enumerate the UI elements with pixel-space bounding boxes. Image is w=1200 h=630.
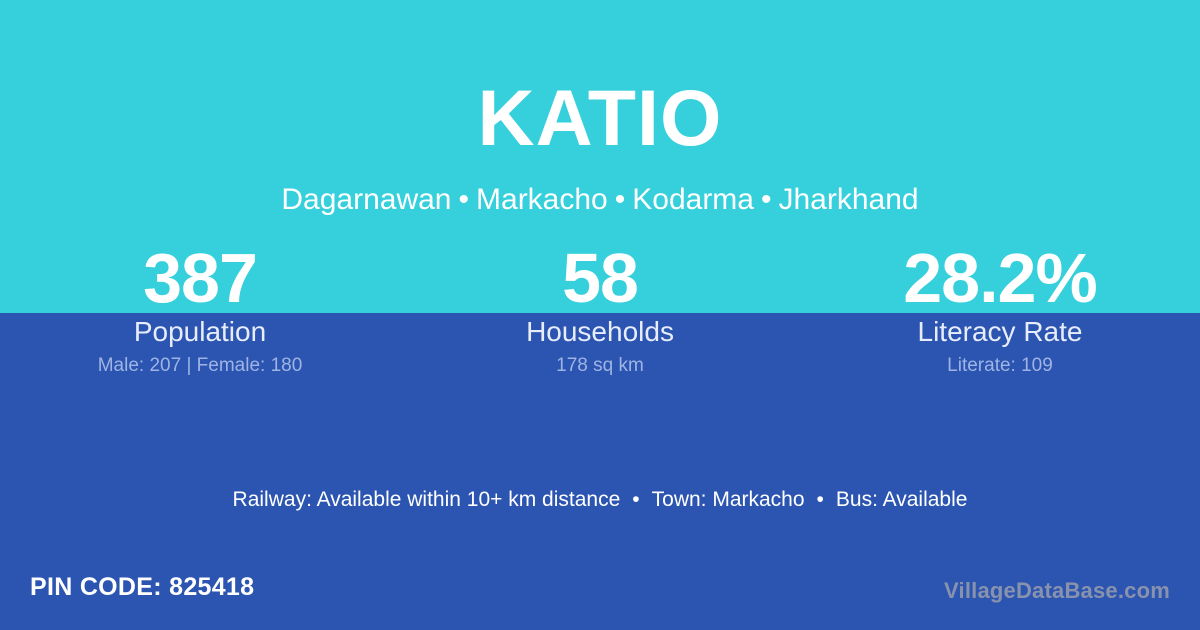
stat-value: 58 — [400, 244, 800, 312]
stat-subtext: Male: 207 | Female: 180 — [0, 355, 400, 377]
stat-population: 387 Population Male: 207 | Female: 180 — [0, 244, 400, 377]
stat-label: Population — [0, 316, 400, 348]
stat-subtext: Literate: 109 — [800, 355, 1200, 377]
pin-code: PIN CODE: 825418 — [30, 572, 254, 602]
amenity-town: Town: Markacho — [652, 488, 805, 511]
breadcrumb: Dagarnawan•Markacho•Kodarma•Jharkhand — [0, 182, 1200, 218]
breadcrumb-separator-1: • — [452, 183, 477, 216]
breadcrumb-district: Kodarma — [632, 183, 754, 216]
amenity-railway: Railway: Available within 10+ km distanc… — [233, 488, 621, 511]
stat-label: Households — [400, 316, 800, 348]
stats-row: 387 Population Male: 207 | Female: 180 5… — [0, 244, 1200, 377]
stat-households: 58 Households 178 sq km — [400, 244, 800, 377]
site-brand: VillageDataBase.com — [944, 578, 1170, 604]
stat-subtext: 178 sq km — [400, 355, 800, 377]
breadcrumb-separator-2: • — [608, 183, 633, 216]
breadcrumb-separator-3: • — [754, 183, 779, 216]
village-info-card: KATIO Dagarnawan•Markacho•Kodarma•Jharkh… — [0, 0, 1200, 630]
amenity-separator-1: • — [620, 488, 651, 511]
stat-label: Literacy Rate — [800, 316, 1200, 348]
amenity-bus: Bus: Available — [836, 488, 968, 511]
page-title: KATIO — [0, 78, 1200, 157]
footer-bar: PIN CODE: 825418 VillageDataBase.com — [0, 552, 1200, 630]
breadcrumb-block: Markacho — [476, 183, 608, 216]
amenities-line: Railway: Available within 10+ km distanc… — [0, 486, 1200, 514]
breadcrumb-panchayat: Dagarnawan — [281, 183, 451, 216]
stat-value: 387 — [0, 244, 400, 312]
amenity-separator-2: • — [805, 488, 836, 511]
breadcrumb-state: Jharkhand — [779, 183, 919, 216]
stat-literacy-rate: 28.2% Literacy Rate Literate: 109 — [800, 244, 1200, 377]
stat-value: 28.2% — [800, 244, 1200, 312]
